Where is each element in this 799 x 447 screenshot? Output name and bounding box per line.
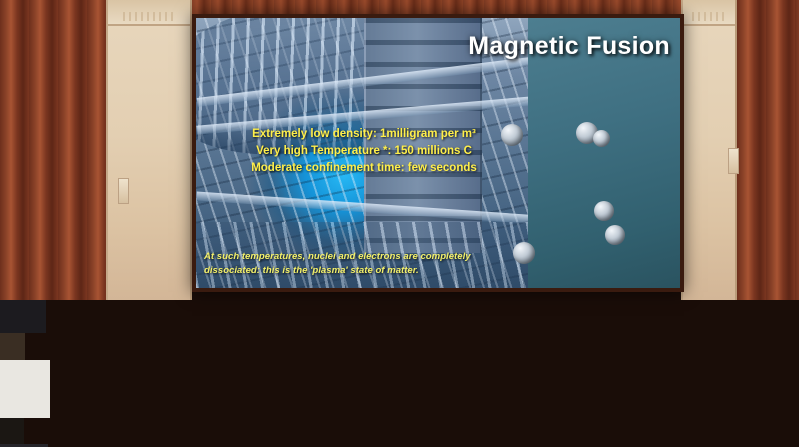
- audience-head: [0, 333, 25, 360]
- slide-bullet-list: Extremely low density: 1milligram per m³…: [230, 126, 498, 177]
- pillar-capital-right: [683, 0, 735, 26]
- bullet-density: Extremely low density: 1milligram per m³: [230, 126, 498, 143]
- pillar-capital-left: [108, 0, 190, 26]
- audience-member: [0, 418, 799, 447]
- hall-pillar-right: [681, 0, 737, 300]
- footnote-line-2: dissociated: this is the 'plasma' state …: [204, 264, 504, 278]
- helium-neutron-b: [605, 225, 625, 245]
- audience-head: [0, 418, 24, 444]
- deuterium-neutron: [501, 124, 523, 146]
- footnote-line-1: At such temperatures, nuclei and electro…: [204, 250, 504, 264]
- bullet-temperature: Very high Temperature *: 150 millions C: [230, 143, 498, 160]
- stage-curtain-top: [106, 0, 737, 15]
- audience-body: [0, 360, 50, 418]
- free-neutron: [513, 242, 535, 264]
- stage-curtain-right: [737, 0, 799, 300]
- stage-curtain-left: [0, 0, 106, 300]
- slide-footnote: At such temperatures, nuclei and electro…: [204, 250, 504, 278]
- presentation-slide: Magnetic Fusion Extremely low density: 1…: [196, 18, 680, 288]
- wall-fixture-right: [728, 148, 739, 174]
- tritium-neutron-b: [593, 130, 610, 147]
- audience-member: [0, 333, 799, 418]
- slide-title: Magnetic Fusion: [468, 32, 670, 61]
- lecture-hall-scene: Magnetic Fusion Extremely low density: 1…: [0, 0, 799, 447]
- hall-pillar-left: [106, 0, 192, 300]
- wall-fixture-left: [118, 178, 129, 204]
- projection-screen: Magnetic Fusion Extremely low density: 1…: [192, 14, 684, 292]
- bullet-confinement: Moderate confinement time: few seconds: [230, 160, 498, 177]
